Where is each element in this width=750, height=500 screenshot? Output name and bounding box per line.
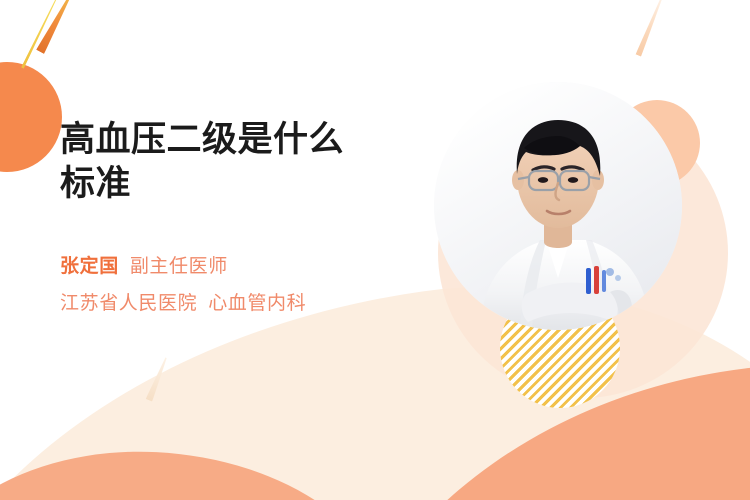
doctor-affiliation-line: 江苏省人民医院心血管内科 xyxy=(60,285,410,322)
doctor-meta-block: 张定国副主任医师 江苏省人民医院心血管内科 xyxy=(60,248,410,322)
salmon-wave-shape-secondary xyxy=(0,440,396,500)
page-title: 高血压二级是什么 标准 xyxy=(60,118,410,206)
doctor-professional-title: 副主任医师 xyxy=(130,256,228,277)
doctor-name: 张定国 xyxy=(60,256,119,277)
text-content-block: 高血压二级是什么 标准 张定国副主任医师 江苏省人民医院心血管内科 xyxy=(60,118,410,322)
doctor-department: 心血管内科 xyxy=(208,293,306,314)
doctor-portrait-avatar xyxy=(434,82,682,330)
faint-diagonal-stroke-shape-bottom-left xyxy=(146,356,170,401)
orange-diagonal-stroke-shape xyxy=(36,0,77,54)
doctor-hospital: 江苏省人民医院 xyxy=(60,293,197,314)
faint-diagonal-stroke-shape-top-right xyxy=(635,0,666,57)
orange-circle-shape xyxy=(0,62,62,172)
salmon-wave-shape xyxy=(277,333,750,500)
doctor-identity-line: 张定国副主任医师 xyxy=(60,248,410,285)
doctor-video-cover-card: 高血压二级是什么 标准 张定国副主任医师 江苏省人民医院心血管内科 xyxy=(0,0,750,500)
yellow-diagonal-stroke-shape xyxy=(21,0,58,69)
